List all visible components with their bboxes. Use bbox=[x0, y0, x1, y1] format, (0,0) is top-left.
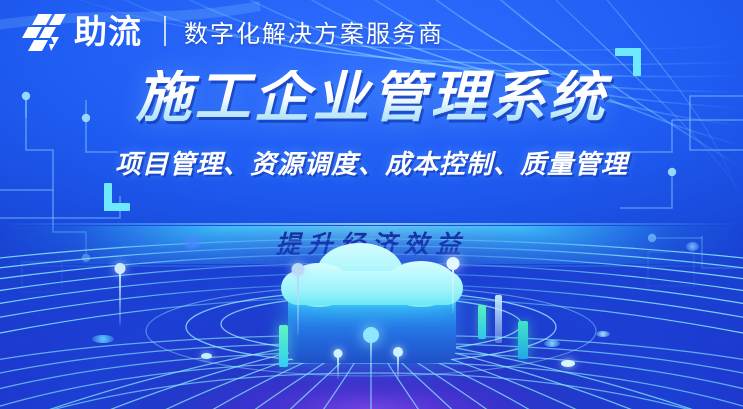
brand-tagline: 数字化解决方案服务商 bbox=[184, 14, 444, 49]
data-pin-marker-icon bbox=[362, 327, 380, 373]
cloud-shape bbox=[281, 243, 463, 305]
data-bar-icon bbox=[518, 321, 528, 359]
ground-glow-blob bbox=[92, 335, 114, 343]
ground-glow-blob bbox=[183, 237, 201, 249]
page-title: 施工企业管理系统 bbox=[0, 70, 743, 126]
data-bar-icon bbox=[478, 305, 486, 339]
promotional-banner: 助流 数字化解决方案服务商 施工企业管理系统 项目管理、资源调度、成本控制、质量… bbox=[0, 0, 743, 409]
ground-glow-blob bbox=[544, 340, 560, 347]
data-pin-marker-icon bbox=[333, 349, 343, 379]
ground-glow-blob bbox=[596, 331, 610, 337]
data-bar-icon bbox=[279, 325, 288, 367]
corner-bracket-bottom-left-icon bbox=[104, 183, 130, 211]
data-pin-marker-icon bbox=[290, 263, 306, 335]
data-pin-marker-icon bbox=[113, 263, 127, 325]
header-divider bbox=[164, 16, 166, 46]
data-pin-marker-icon bbox=[392, 347, 403, 379]
page-subtitle: 项目管理、资源调度、成本控制、质量管理 bbox=[0, 152, 743, 178]
data-bar-icon bbox=[495, 295, 502, 343]
brand-name: 助流 bbox=[74, 15, 142, 48]
ground-glow-blob bbox=[561, 360, 575, 367]
lightning-flow-logo-icon bbox=[22, 11, 68, 51]
cloud-platform-icon bbox=[0, 219, 743, 409]
brand-header: 助流 数字化解决方案服务商 bbox=[22, 8, 444, 54]
ground-glow-blob bbox=[201, 353, 212, 359]
data-pin-marker-icon bbox=[445, 257, 461, 313]
cloud-scene bbox=[0, 219, 743, 409]
ground-glow-blob bbox=[686, 242, 699, 251]
